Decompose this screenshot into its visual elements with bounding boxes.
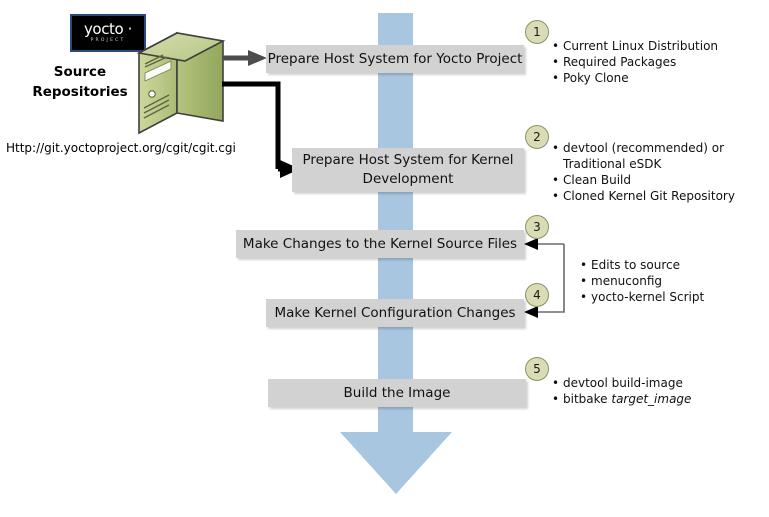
list-item: • Clean Build	[552, 172, 764, 188]
bullet-text: menuconfig	[591, 273, 760, 289]
bullet-list-step-1: • Current Linux Distribution • Required …	[552, 38, 762, 86]
source-label-line2: Repositories	[16, 82, 144, 102]
bullet-marker-icon: •	[552, 172, 563, 188]
yocto-logo-wordmark: yocto ·	[84, 22, 132, 37]
bullet-list-steps-3-4: • Edits to source • menuconfig • yocto-k…	[580, 257, 760, 305]
bullet-marker-icon: •	[580, 289, 591, 305]
diagram-canvas: yocto · PROJECT Source Repositories Http…	[0, 0, 769, 517]
process-box-step-1[interactable]: Prepare Host System for Yocto Project	[266, 45, 524, 73]
bullet-text: Clean Build	[563, 172, 764, 188]
process-box-step-2[interactable]: Prepare Host System for Kernel Developme…	[292, 148, 524, 192]
bullet-text: Current Linux Distribution	[563, 38, 762, 54]
bullet-text-italic: target_image	[611, 392, 691, 406]
list-item: • Poky Clone	[552, 70, 762, 86]
step-number-4: 4	[533, 288, 541, 302]
list-item: • devtool build-image	[552, 375, 752, 391]
flow-arrowhead-icon	[340, 432, 452, 494]
list-item: • Cloned Kernel Git Repository	[552, 188, 764, 204]
step-number-circle-3: 3	[525, 215, 549, 239]
bullet-marker-icon: •	[580, 273, 591, 289]
process-box-step-5[interactable]: Build the Image	[268, 379, 526, 407]
yocto-logo-subtext: PROJECT	[91, 39, 126, 44]
list-item: • menuconfig	[580, 273, 760, 289]
step-number-circle-4: 4	[525, 283, 549, 307]
process-box-step-4[interactable]: Make Kernel Configuration Changes	[266, 299, 524, 327]
bullet-text-plain: bitbake	[563, 392, 611, 406]
list-item: • yocto-kernel Script	[580, 289, 760, 305]
bullet-marker-icon: •	[552, 375, 563, 391]
bullet-list-step-2: • devtool (recommended) or Traditional e…	[552, 140, 764, 204]
flow-spine	[378, 13, 413, 433]
bullet-marker-icon: •	[580, 257, 591, 273]
step-number-5: 5	[533, 362, 541, 376]
process-box-step-3-label: Make Changes to the Kernel Source Files	[243, 235, 517, 254]
bullet-marker-icon: •	[552, 188, 563, 204]
bullet-text: Poky Clone	[563, 70, 762, 86]
bullet-text: devtool build-image	[563, 375, 752, 391]
list-item: • devtool (recommended) or Traditional e…	[552, 140, 764, 172]
bullet-marker-icon: •	[552, 70, 563, 86]
step-number-circle-2: 2	[525, 125, 549, 149]
bullet-marker-icon: •	[552, 38, 563, 54]
step-number-circle-1: 1	[525, 20, 549, 44]
list-item: • bitbake target_image	[552, 391, 752, 407]
bullet-text: Cloned Kernel Git Repository	[563, 188, 764, 204]
step-number-2: 2	[533, 130, 541, 144]
list-item: • Edits to source	[580, 257, 760, 273]
step-number-1: 1	[533, 25, 541, 39]
list-item: • Required Packages	[552, 54, 762, 70]
bullet-text: devtool (recommended) or Traditional eSD…	[563, 140, 764, 172]
repository-url: Http://git.yoctoproject.org/cgit/cgit.cg…	[6, 141, 236, 155]
process-box-step-4-label: Make Kernel Configuration Changes	[274, 304, 515, 323]
bullet-marker-icon: •	[552, 54, 563, 70]
steps-3-4-bracket-connector	[524, 236, 580, 320]
bullet-marker-icon: •	[552, 140, 563, 156]
bullet-list-step-5: • devtool build-image • bitbake target_i…	[552, 375, 752, 407]
server-tower-icon	[133, 31, 229, 139]
step-number-3: 3	[533, 220, 541, 234]
bullet-marker-icon: •	[552, 391, 563, 407]
source-label-line1: Source	[16, 62, 144, 82]
bullet-text: bitbake target_image	[563, 391, 752, 407]
step-number-circle-5: 5	[525, 357, 549, 381]
bullet-text-plain: devtool build-image	[563, 376, 683, 390]
source-repositories-label: Source Repositories	[16, 62, 144, 102]
process-box-step-5-label: Build the Image	[344, 384, 451, 403]
bullet-text: Edits to source	[591, 257, 760, 273]
process-box-step-3[interactable]: Make Changes to the Kernel Source Files	[236, 230, 524, 258]
process-box-step-2-label-line2: Development	[302, 170, 513, 189]
process-box-step-2-label-line1: Prepare Host System for Kernel	[302, 151, 513, 170]
bullet-text: yocto-kernel Script	[591, 289, 760, 305]
bullet-text: Required Packages	[563, 54, 762, 70]
list-item: • Current Linux Distribution	[552, 38, 762, 54]
process-box-step-1-label: Prepare Host System for Yocto Project	[268, 50, 523, 69]
